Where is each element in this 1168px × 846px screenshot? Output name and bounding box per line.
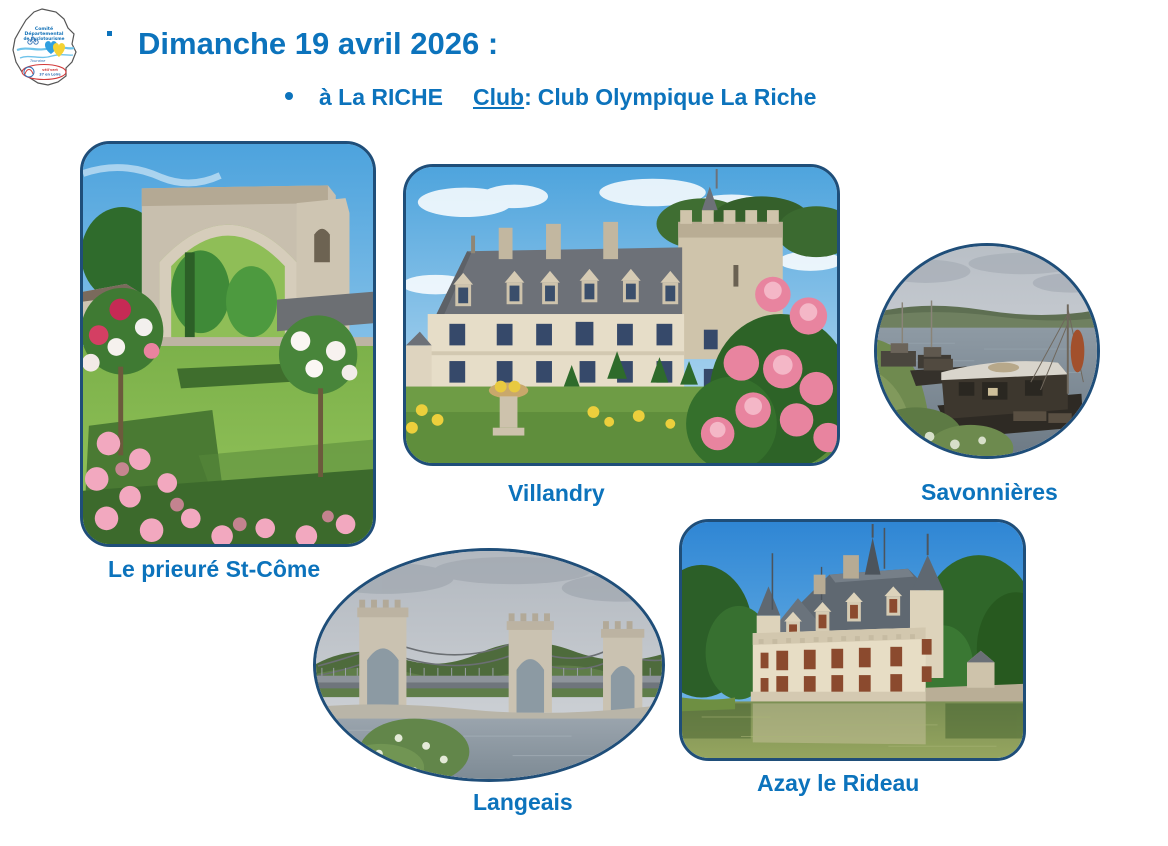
caption-stcome: Le prieuré St-Côme <box>108 556 320 583</box>
svg-text:Comité: Comité <box>35 25 53 32</box>
committee-logo: Comité Départemental de Cyclotourisme To… <box>8 6 80 88</box>
caption-savonnieres: Savonnières <box>921 479 1058 506</box>
photo-savonnieres-barges <box>877 246 1097 456</box>
club-name: Club Olympique La Riche <box>538 84 817 111</box>
svg-text:véli'vert: véli'vert <box>42 68 58 72</box>
title-leading-dot <box>107 31 112 36</box>
club-label: Club <box>473 84 524 111</box>
photo-langeais-bridge <box>316 551 662 779</box>
caption-azay: Azay le Rideau <box>757 770 919 797</box>
photo-stcome-priory <box>83 144 373 544</box>
event-bullet-line: à La RICHE Club : Club Olympique La Rich… <box>285 84 816 111</box>
photo-villandry-chateau <box>406 167 837 463</box>
svg-text:37 en Loire: 37 en Loire <box>39 73 61 77</box>
caption-villandry: Villandry <box>508 480 605 507</box>
photo-frame-langeais <box>313 548 665 782</box>
photo-frame-villandry <box>403 164 840 466</box>
slide-canvas: Comité Départemental de Cyclotourisme To… <box>0 0 1168 846</box>
page-title: Dimanche 19 avril 2026 : <box>138 26 498 62</box>
svg-text:Touraine: Touraine <box>30 59 46 63</box>
photo-frame-savonnieres <box>874 243 1100 459</box>
bullet-point-icon <box>285 92 293 100</box>
photo-azay-le-rideau-chateau <box>682 522 1023 758</box>
photo-frame-azay <box>679 519 1026 761</box>
caption-langeais: Langeais <box>473 789 573 816</box>
photo-frame-stcome <box>80 141 376 547</box>
event-place: à La RICHE <box>319 84 443 111</box>
club-separator: : <box>524 84 532 111</box>
